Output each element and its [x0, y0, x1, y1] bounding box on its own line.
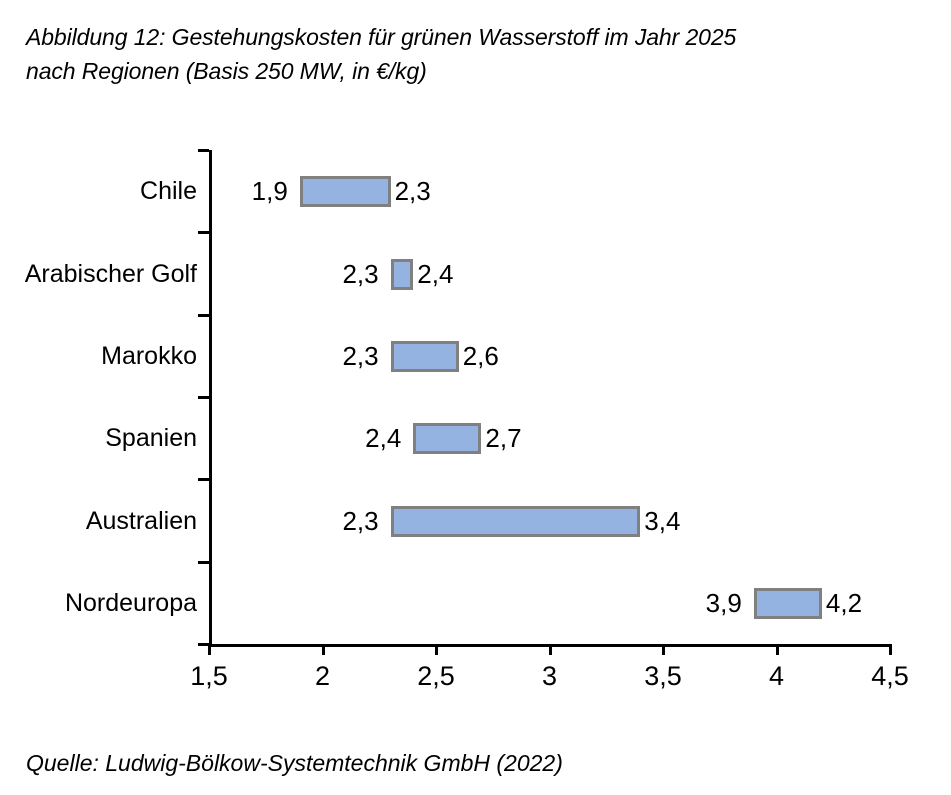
range-bar [300, 176, 391, 207]
x-axis-tick-label: 1,5 [169, 660, 249, 692]
x-axis-tick-label: 4 [737, 660, 817, 692]
bar-value-high-label: 2,6 [463, 341, 499, 371]
figure-title: Abbildung 12: Gestehungskosten für grüne… [26, 20, 916, 88]
bar-value-high-label: 2,7 [485, 423, 521, 453]
x-axis-tick [662, 644, 665, 655]
y-axis-tick [198, 149, 209, 152]
range-bar [413, 423, 481, 454]
range-bar [754, 588, 822, 619]
x-axis-tick-label: 4,5 [850, 660, 930, 692]
bar-value-low-label: 1,9 [230, 176, 288, 206]
y-axis-category-label: Nordeuropa [7, 588, 197, 618]
bar-value-low-label: 2,4 [343, 423, 401, 453]
x-axis-tick [549, 644, 552, 655]
bar-value-high-label: 4,2 [826, 588, 862, 618]
bar-value-low-label: 3,9 [684, 588, 742, 618]
y-axis-category-label: Australien [7, 506, 197, 536]
x-axis-tick-label: 3,5 [623, 660, 703, 692]
x-axis-tick [208, 644, 211, 655]
range-bar [391, 341, 459, 372]
y-axis-line [209, 150, 212, 647]
y-axis-category-label: Chile [7, 176, 197, 206]
x-axis-tick-label: 3 [510, 660, 590, 692]
figure-source: Quelle: Ludwig-Bölkow-Systemtechnik GmbH… [26, 748, 563, 778]
x-axis-tick [435, 644, 438, 655]
y-axis-tick [198, 396, 209, 399]
y-axis-tick [198, 231, 209, 234]
bar-value-low-label: 2,3 [321, 341, 379, 371]
x-axis-tick [776, 644, 779, 655]
y-axis-category-label: Arabischer Golf [7, 259, 197, 289]
y-axis-category-label: Marokko [7, 341, 197, 371]
x-axis-tick [889, 644, 892, 655]
bar-value-high-label: 2,3 [395, 176, 431, 206]
range-bar [391, 506, 641, 537]
x-axis-tick-label: 2 [283, 660, 363, 692]
x-axis-tick-label: 2,5 [396, 660, 476, 692]
y-axis-tick [198, 478, 209, 481]
chart-plot-area: 1,522,533,544,5 ChileArabischer GolfMaro… [0, 104, 951, 704]
range-bar [391, 259, 414, 290]
y-axis-tick [198, 314, 209, 317]
y-axis-tick [198, 561, 209, 564]
x-axis-tick [322, 644, 325, 655]
bar-value-high-label: 3,4 [644, 506, 680, 536]
bar-value-low-label: 2,3 [321, 259, 379, 289]
y-axis-category-label: Spanien [7, 423, 197, 453]
bar-value-high-label: 2,4 [417, 259, 453, 289]
bar-value-low-label: 2,3 [321, 506, 379, 536]
